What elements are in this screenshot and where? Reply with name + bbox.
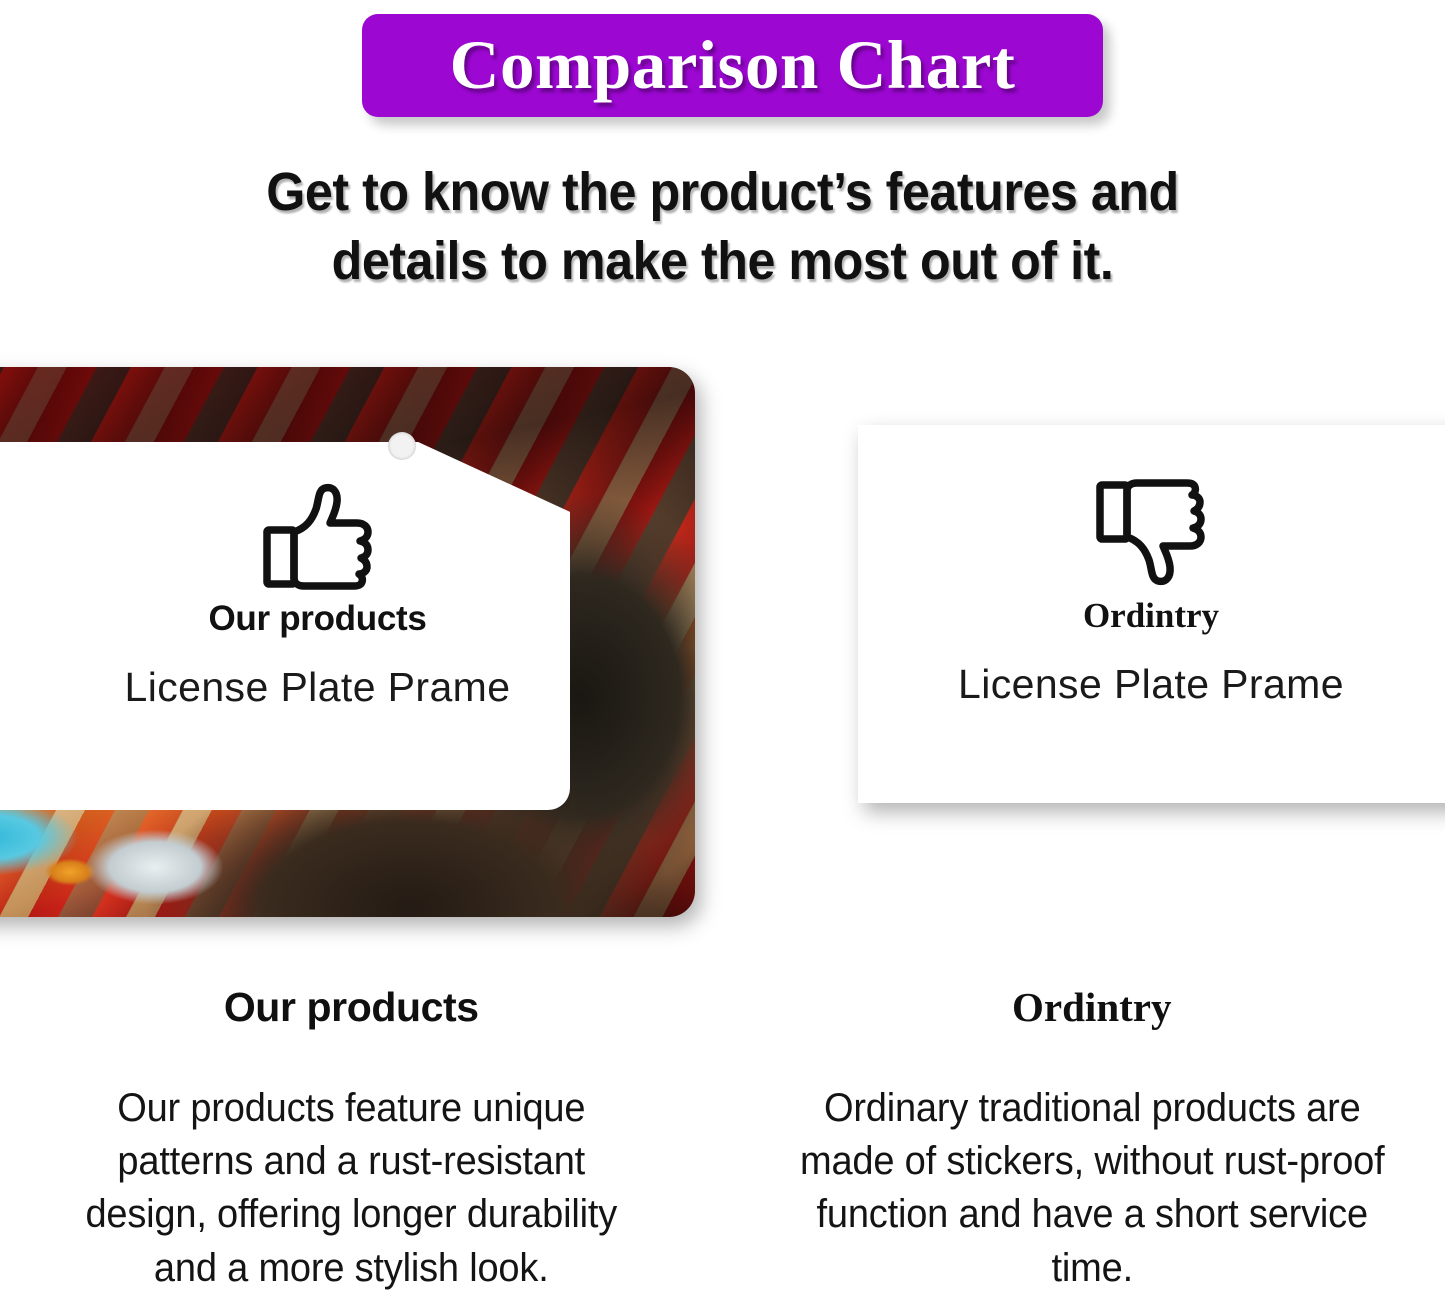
- subtitle-line-1: Get to know the product’s features and: [51, 158, 1395, 227]
- description-body-ours: Our products feature unique patterns and…: [54, 1082, 649, 1295]
- page-title: Comparison Chart: [450, 31, 1016, 100]
- card-subtitle-ordinary: License Plate Prame: [795, 662, 1445, 707]
- screw-hole-icon: [388, 432, 416, 460]
- card-subtitle-ours: License Plate Prame: [0, 665, 695, 710]
- license-plate-frame-ours: Our products License Plate Prame: [0, 367, 695, 917]
- description-column-ours: Our products Our products feature unique…: [0, 985, 723, 1314]
- description-title-ours: Our products: [38, 985, 665, 1030]
- description-column-ordinary: Ordintry Ordinary traditional products a…: [723, 985, 1445, 1314]
- page-subtitle: Get to know the product’s features and d…: [51, 158, 1395, 296]
- plate-card-ours: Our products License Plate Prame: [0, 482, 695, 710]
- description-title-ordinary: Ordintry: [779, 985, 1406, 1030]
- subtitle-line-2: details to make the most out of it.: [51, 227, 1395, 296]
- thumbs-down-icon: [1095, 479, 1207, 587]
- card-name-ordinary: Ordintry: [795, 597, 1445, 636]
- plate-card-ordinary: Ordintry License Plate Prame: [795, 479, 1445, 707]
- comparison-chart-banner: Comparison Chart: [362, 14, 1103, 117]
- card-name-ours: Our products: [0, 600, 695, 639]
- header-banner-area: Comparison Chart: [0, 0, 1445, 132]
- license-plate-frame-ordinary: Ordintry License Plate Prame: [795, 367, 1445, 917]
- description-body-ordinary: Ordinary traditional products are made o…: [794, 1082, 1389, 1295]
- product-frames-row: Our products License Plate Prame Ordintr…: [0, 355, 1445, 935]
- comparison-descriptions: Our products Our products feature unique…: [0, 985, 1445, 1314]
- thumbs-up-icon: [262, 482, 374, 590]
